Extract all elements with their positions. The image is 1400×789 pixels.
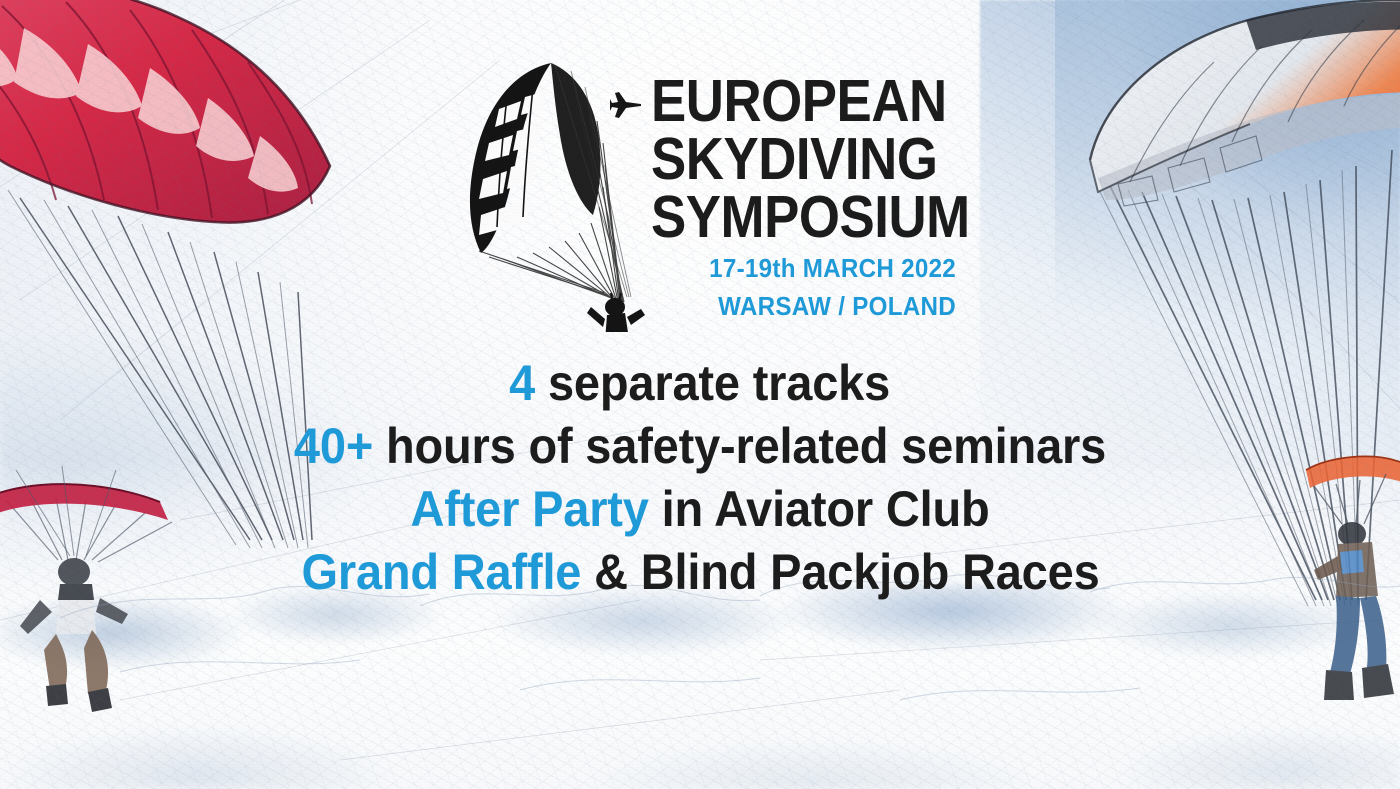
logo-title-line-1: EUROPEAN — [651, 72, 946, 130]
headline-rest-4: & Blind Packjob Races — [581, 544, 1099, 600]
logo-location: WARSAW / POLAND — [651, 291, 956, 322]
poster-canvas: EUROPEAN SKYDIVING SYMPOSIUM 17-19th MAR… — [0, 0, 1400, 789]
headline-item-2: 40+ hours of safety-related seminars — [0, 415, 1400, 478]
logo-title-line-2: SKYDIVING — [651, 130, 946, 188]
event-logo: EUROPEAN SKYDIVING SYMPOSIUM 17-19th MAR… — [455, 52, 975, 332]
background-sky-top-right-wash — [1120, 0, 1400, 230]
headline-list: 4 separate tracks 40+ hours of safety-re… — [0, 352, 1400, 604]
headline-rest-1: separate tracks — [535, 355, 890, 411]
headline-item-3: After Party in Aviator Club — [0, 478, 1400, 541]
headline-accent-1: 4 — [510, 355, 536, 411]
logo-dates: 17-19th MARCH 2022 — [651, 253, 956, 284]
headline-rest-2: hours of safety-related seminars — [373, 418, 1106, 474]
headline-rest-3: in Aviator Club — [649, 481, 990, 537]
headline-item-4: Grand Raffle & Blind Packjob Races — [0, 541, 1400, 604]
headline-accent-3: After Party — [410, 481, 648, 537]
headline-accent-2: 40+ — [294, 418, 373, 474]
background-cloud-lower — [0, 639, 1400, 789]
headline-accent-4: Grand Raffle — [301, 544, 581, 600]
headline-item-1: 4 separate tracks — [0, 352, 1400, 415]
logo-title-line-3: SYMPOSIUM — [651, 188, 946, 246]
airplane-icon — [610, 90, 644, 120]
logo-wordmark: EUROPEAN SKYDIVING SYMPOSIUM 17-19th MAR… — [651, 72, 981, 322]
